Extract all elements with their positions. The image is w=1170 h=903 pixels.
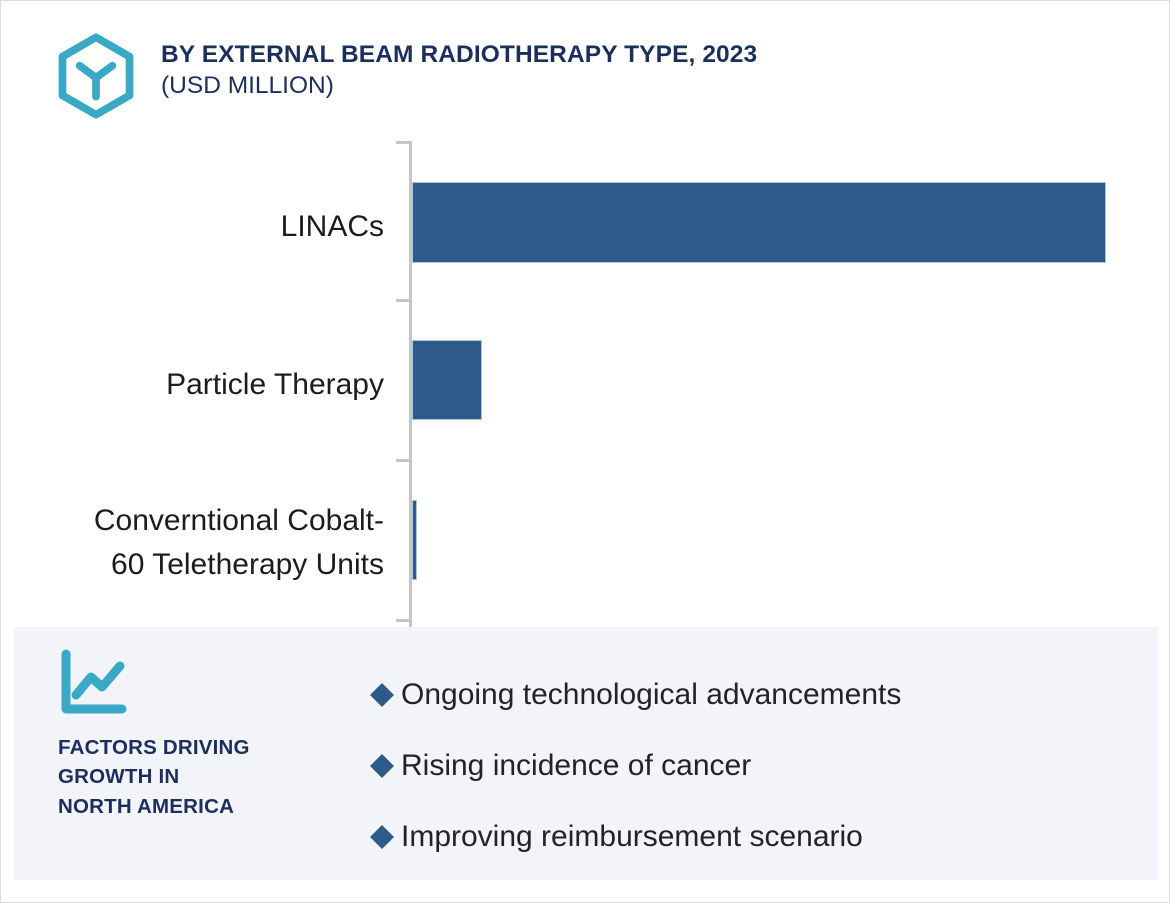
chart-header: BY EXTERNAL BEAM RADIOTHERAPY TYPE, 2023… [53, 29, 757, 119]
page-title: BY EXTERNAL BEAM RADIOTHERAPY TYPE, 2023 [161, 41, 757, 69]
list-item: Rising incidence of cancer [369, 730, 1129, 801]
list-item: Improving reimbursement scenario [369, 801, 1129, 872]
bar-chart: LINACs Particle Therapy Converntional Co… [1, 131, 1170, 629]
factors-heading-block: FACTORS DRIVING GROWTH IN NORTH AMERICA [58, 649, 358, 821]
factor-text: Rising incidence of cancer [401, 748, 751, 784]
factor-text: Improving reimbursement scenario [401, 819, 863, 855]
bar-label-linacs: LINACs [281, 205, 384, 249]
list-item: Ongoing technological advancements [369, 659, 1129, 730]
bar-label-cobalt-60-teletherapy: Converntional Cobalt- 60 Teletherapy Uni… [94, 499, 384, 586]
diamond-bullet-icon [369, 753, 395, 779]
axis-tick [396, 141, 410, 144]
line-chart-icon [58, 649, 128, 717]
bar-particle-therapy[interactable] [412, 340, 482, 420]
axis-tick [396, 619, 410, 622]
page-subtitle: (USD MILLION) [161, 71, 757, 102]
bar-label-particle-therapy: Particle Therapy [166, 363, 384, 407]
factor-text: Ongoing technological advancements [401, 677, 901, 713]
factors-list: Ongoing technological advancements Risin… [369, 659, 1129, 872]
axis-tick [396, 299, 410, 302]
bar-cobalt-60-teletherapy[interactable] [412, 500, 417, 580]
factors-heading: FACTORS DRIVING GROWTH IN NORTH AMERICA [58, 733, 358, 821]
factors-panel: FACTORS DRIVING GROWTH IN NORTH AMERICA … [14, 627, 1158, 880]
diamond-bullet-icon [369, 824, 395, 850]
axis-tick [396, 459, 410, 462]
hexagon-y-logo-icon [53, 33, 139, 119]
title-block: BY EXTERNAL BEAM RADIOTHERAPY TYPE, 2023… [161, 29, 757, 102]
diamond-bullet-icon [369, 682, 395, 708]
infographic-page: BY EXTERNAL BEAM RADIOTHERAPY TYPE, 2023… [0, 0, 1170, 903]
bar-linacs[interactable] [412, 182, 1106, 263]
